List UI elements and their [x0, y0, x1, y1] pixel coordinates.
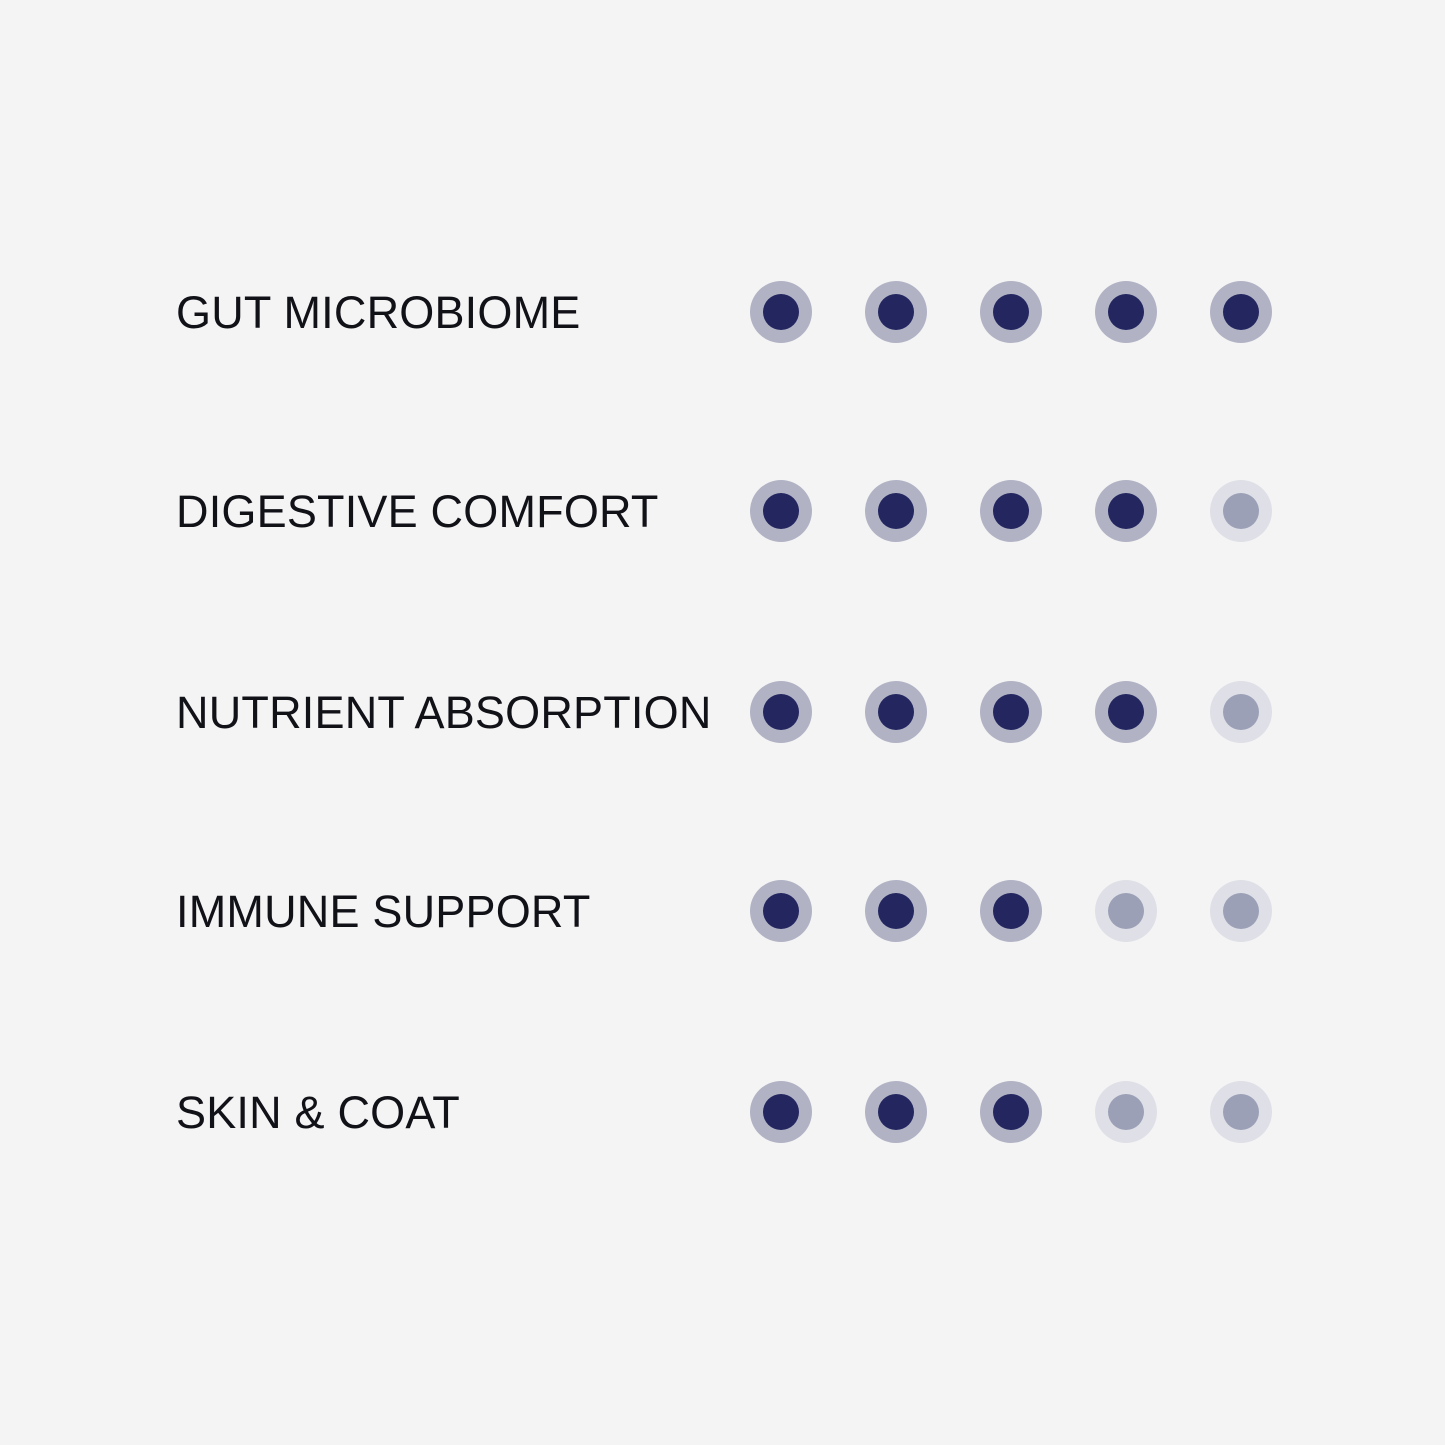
rating-dot-core [993, 294, 1029, 330]
rating-dot-core [993, 694, 1029, 730]
rating-dot-core [878, 1094, 914, 1130]
rating-row: SKIN & COAT [176, 1072, 1286, 1152]
rating-dots-track [750, 281, 1272, 343]
rating-dot-core [878, 493, 914, 529]
rating-dot [1095, 281, 1157, 343]
rating-dot [1095, 1081, 1157, 1143]
benefit-rating-chart: GUT MICROBIOME DIGESTIVE COMFORT NUTRIEN… [0, 0, 1445, 1445]
rating-dots-track [750, 1081, 1272, 1143]
rating-dot-core [763, 493, 799, 529]
rating-dot-core [1108, 1094, 1144, 1130]
rating-dot [750, 480, 812, 542]
rating-dot-core [1223, 294, 1259, 330]
rating-dot [750, 681, 812, 743]
rating-rows-container: GUT MICROBIOME DIGESTIVE COMFORT NUTRIEN… [0, 0, 1445, 1445]
rating-dot [1210, 681, 1272, 743]
rating-dot-core [763, 694, 799, 730]
rating-dot [1095, 880, 1157, 942]
rating-dot-core [993, 493, 1029, 529]
rating-dot [865, 681, 927, 743]
rating-dot-core [1223, 893, 1259, 929]
rating-dot [980, 480, 1042, 542]
rating-dot-core [1108, 294, 1144, 330]
rating-dot [1095, 681, 1157, 743]
rating-dot [980, 880, 1042, 942]
rating-row: IMMUNE SUPPORT [176, 871, 1286, 951]
rating-dot [1210, 281, 1272, 343]
rating-dot [1210, 1081, 1272, 1143]
rating-row: GUT MICROBIOME [176, 272, 1286, 352]
rating-dot-core [763, 294, 799, 330]
rating-dot-core [1108, 493, 1144, 529]
rating-dot [980, 1081, 1042, 1143]
rating-dot-core [878, 294, 914, 330]
rating-dot [980, 281, 1042, 343]
rating-dot-core [1223, 694, 1259, 730]
rating-dot [750, 880, 812, 942]
rating-dot-core [763, 893, 799, 929]
rating-row-label: GUT MICROBIOME [176, 290, 746, 335]
rating-dots-track [750, 880, 1272, 942]
rating-dot [1210, 880, 1272, 942]
rating-dot [865, 281, 927, 343]
rating-dots-track [750, 681, 1272, 743]
rating-row-label: IMMUNE SUPPORT [176, 889, 746, 934]
rating-dot-core [763, 1094, 799, 1130]
rating-row: DIGESTIVE COMFORT [176, 471, 1286, 551]
rating-row-label: SKIN & COAT [176, 1090, 746, 1135]
rating-dot-core [1223, 1094, 1259, 1130]
rating-dot [1210, 480, 1272, 542]
rating-dot [865, 1081, 927, 1143]
rating-row-label: NUTRIENT ABSORPTION [176, 690, 746, 735]
rating-dot [750, 1081, 812, 1143]
rating-dot [865, 480, 927, 542]
rating-dot [1095, 480, 1157, 542]
rating-row-label: DIGESTIVE COMFORT [176, 489, 746, 534]
rating-dot [980, 681, 1042, 743]
rating-dot-core [1108, 694, 1144, 730]
rating-dot [865, 880, 927, 942]
rating-dot-core [993, 1094, 1029, 1130]
rating-dot-core [878, 893, 914, 929]
rating-dot-core [993, 893, 1029, 929]
rating-row: NUTRIENT ABSORPTION [176, 672, 1286, 752]
rating-dot-core [878, 694, 914, 730]
rating-dot [750, 281, 812, 343]
rating-dot-core [1108, 893, 1144, 929]
rating-dots-track [750, 480, 1272, 542]
rating-dot-core [1223, 493, 1259, 529]
